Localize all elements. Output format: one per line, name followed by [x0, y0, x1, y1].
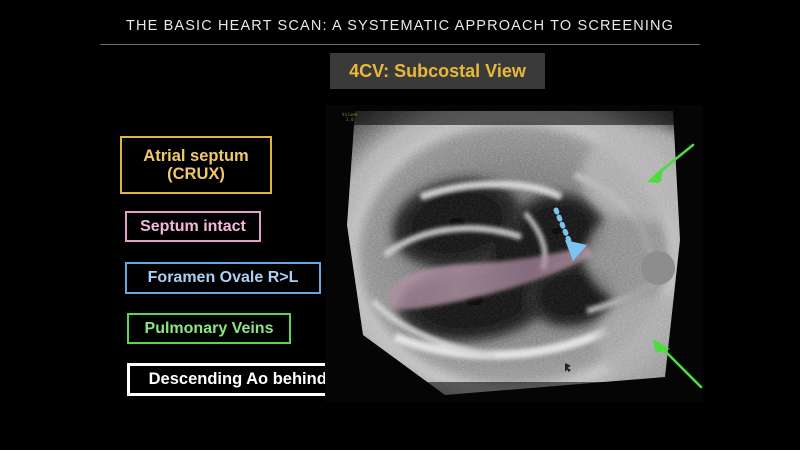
legend-label-atrial-septum-line1: Atrial septum — [143, 147, 248, 165]
subtitle-banner: 4CV: Subcostal View — [330, 53, 545, 89]
ultrasound-svg — [325, 105, 703, 402]
ultrasound-image: Volume 1.0 — [325, 105, 703, 402]
ultrasound-overlay-line2: 1.0 — [342, 117, 358, 122]
legend-label-pulmonary-veins: Pulmonary Veins — [127, 313, 291, 344]
ultrasound-machine-overlay: Volume 1.0 — [342, 112, 358, 122]
subtitle-text: 4CV: Subcostal View — [349, 61, 526, 82]
legend-label-atrial-septum: Atrial septum (CRUX) — [120, 136, 272, 194]
marker-circle — [641, 251, 675, 285]
legend-label-atrial-septum-line2: (CRUX) — [167, 165, 225, 183]
header-divider — [100, 44, 700, 45]
legend-label-septum-intact: Septum intact — [125, 211, 261, 242]
stray-dotted-mark: :::: — [272, 108, 286, 111]
slide-canvas: THE BASIC HEART SCAN: A SYSTEMATIC APPRO… — [0, 0, 800, 450]
page-title: THE BASIC HEART SCAN: A SYSTEMATIC APPRO… — [0, 18, 800, 34]
legend-label-foramen-ovale: Foramen Ovale R>L — [125, 262, 321, 294]
